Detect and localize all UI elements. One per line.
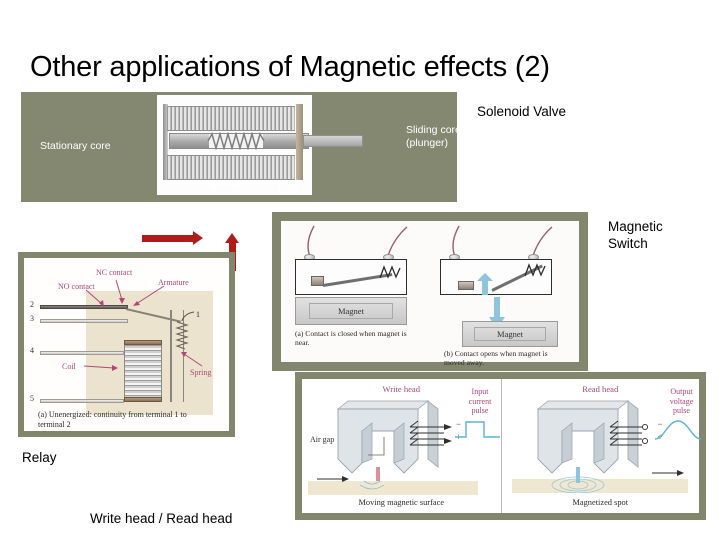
solenoid-end-cap	[296, 104, 303, 180]
relay-figure: 2 3 4 5 1	[18, 252, 235, 437]
write-head-panel: Write head	[302, 379, 501, 513]
read-head-pulse-waveform-icon	[654, 419, 702, 443]
switch-b-contact-block	[458, 281, 474, 290]
magnetic-switch-panel-b: Magnet (b) Contact opens when magnet is …	[430, 221, 579, 362]
switch-a-spring-icon	[379, 265, 401, 279]
arrow-to-stationary-core	[142, 235, 194, 242]
write-pulse-line-3: pulse	[458, 406, 502, 416]
solenoid-assembly	[163, 104, 309, 180]
relay-label-coil: Coil	[62, 362, 76, 371]
relay-label-no-contact: NO contact	[58, 282, 95, 291]
magnetic-switch-panel-a: Magnet (a) Contact is closed when magnet…	[287, 221, 436, 362]
write-pulse-line-1: Input	[458, 387, 502, 397]
switch-b-spring-icon	[524, 263, 546, 277]
switch-b-magnet-label: Magnet	[497, 329, 523, 339]
write-head-pulse-waveform-icon	[454, 419, 502, 441]
caption-relay: Relay	[22, 449, 57, 466]
magnetic-switch-figure: Magnet (a) Contact is closed when magnet…	[272, 212, 588, 371]
label-spring: Spring	[207, 178, 240, 190]
write-head-surface-direction-arrow-icon	[316, 473, 350, 485]
write-head-air-gap-label: Air gap	[310, 435, 334, 444]
solenoid-spring-icon	[207, 132, 265, 150]
caption-magnetic-switch: Magnetic Switch	[608, 218, 708, 252]
write-head-pulse-label: Input current pulse	[458, 387, 502, 416]
read-head-panel: Read head	[501, 379, 700, 513]
read-pulse-line-1: Output	[660, 387, 704, 397]
page-title: Other applications of Magnetic effects (…	[30, 50, 700, 84]
read-pulse-line-3: pulse	[660, 406, 704, 416]
label-sliding-core-plunger: (plunger)	[406, 137, 448, 149]
read-head-pulse-label: Output voltage pulse	[660, 387, 704, 416]
caption-solenoid-valve: Solenoid Valve	[477, 103, 566, 120]
label-coil: Coil	[278, 183, 299, 195]
caption-magnetic-switch-line-2: Switch	[608, 235, 708, 252]
switch-b-caption: (b) Contact opens when magnet is moved a…	[444, 349, 564, 368]
relay-label-spring: Spring	[190, 368, 211, 377]
slide-canvas: Other applications of Magnetic effects (…	[0, 0, 720, 540]
switch-a-magnet-label: Magnet	[338, 306, 364, 316]
caption-magnetic-switch-line-1: Magnetic	[608, 218, 708, 235]
write-pulse-line-2: current	[458, 397, 502, 407]
caption-write-read-head: Write head / Read head	[90, 510, 232, 527]
relay-caption: (a) Unenergized: continuity from termina…	[38, 410, 208, 430]
read-head-core-icon	[524, 397, 654, 493]
read-pulse-line-2: voltage	[660, 397, 704, 407]
write-head-footer: Moving magnetic surface	[302, 498, 501, 507]
relay-label-armature: Armature	[158, 278, 189, 287]
switch-a-caption: (a) Contact is closed when magnet is nea…	[295, 329, 415, 348]
solenoid-coil-winding-top	[167, 106, 295, 131]
relay-label-nc-contact: NC contact	[96, 268, 132, 277]
label-stationary-core: Stationary core	[40, 140, 111, 152]
read-head-surface-direction-arrow-icon	[651, 467, 685, 479]
solenoid-sliding-core-shaft	[303, 135, 363, 147]
switch-b-magnet: Magnet	[462, 321, 558, 347]
solenoid-valve-figure: Stationary core Sliding core (plunger) S…	[21, 92, 457, 202]
switch-a-magnet: Magnet	[295, 297, 407, 325]
relay-leader-lines	[24, 258, 229, 431]
read-head-footer: Magnetized spot	[502, 498, 700, 507]
write-read-head-figure: Write head	[295, 372, 706, 520]
label-sliding-core: Sliding core	[406, 124, 461, 136]
